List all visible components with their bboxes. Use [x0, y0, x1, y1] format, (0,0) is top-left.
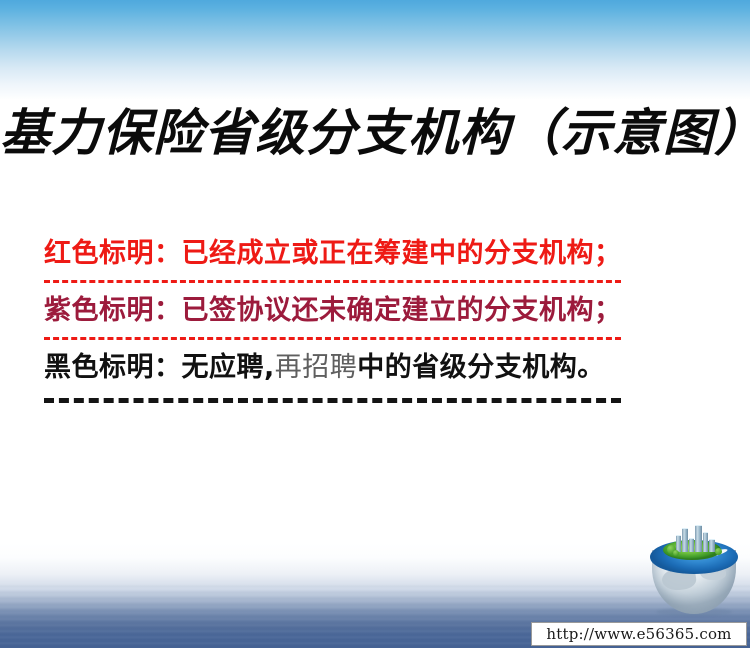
legend-block: 红色标明：已经成立或正在筹建中的分支机构； 紫色标明：已签协议还未确定建立的分支… [44, 232, 684, 409]
tree-3 [715, 548, 722, 555]
legend-divider-red [44, 280, 621, 283]
legend-row-black: 黑色标明：无应聘,再招聘中的省级分支机构。 [44, 346, 684, 390]
legend-text-red: 已经成立或正在筹建中的分支机构； [182, 238, 622, 269]
legend-text-black-b: 中的省级分支机构。 [357, 352, 605, 383]
building-4 [695, 525, 702, 552]
legend-label-red: 红色标明： [44, 238, 182, 269]
legend-label-purple: 紫色标明： [44, 295, 182, 326]
website-url-badge[interactable]: http://www.e56365.com [531, 622, 747, 646]
building-3 [689, 538, 694, 552]
legend-text-black-soft: 再招聘 [275, 352, 358, 383]
legend-text-purple: 已签协议还未确定建立的分支机构； [182, 295, 622, 326]
building-5 [703, 532, 708, 552]
legend-divider-purple [44, 337, 621, 340]
top-sky-gradient [0, 0, 750, 100]
legend-row-red: 红色标明：已经成立或正在筹建中的分支机构； [44, 232, 684, 276]
tree-2 [673, 550, 679, 556]
building-2 [682, 528, 688, 552]
legend-text-black-a: 无应聘, [182, 352, 275, 383]
legend-label-black: 黑色标明： [44, 352, 182, 383]
slide-title: 基力保险省级分支机构（示意图） [0, 101, 750, 165]
legend-divider-black [44, 398, 621, 403]
slide-canvas: 基力保险省级分支机构（示意图） 红色标明：已经成立或正在筹建中的分支机构； 紫色… [0, 0, 750, 648]
globe-city-logo-icon [646, 524, 742, 616]
legend-row-purple: 紫色标明：已签协议还未确定建立的分支机构； [44, 289, 684, 333]
